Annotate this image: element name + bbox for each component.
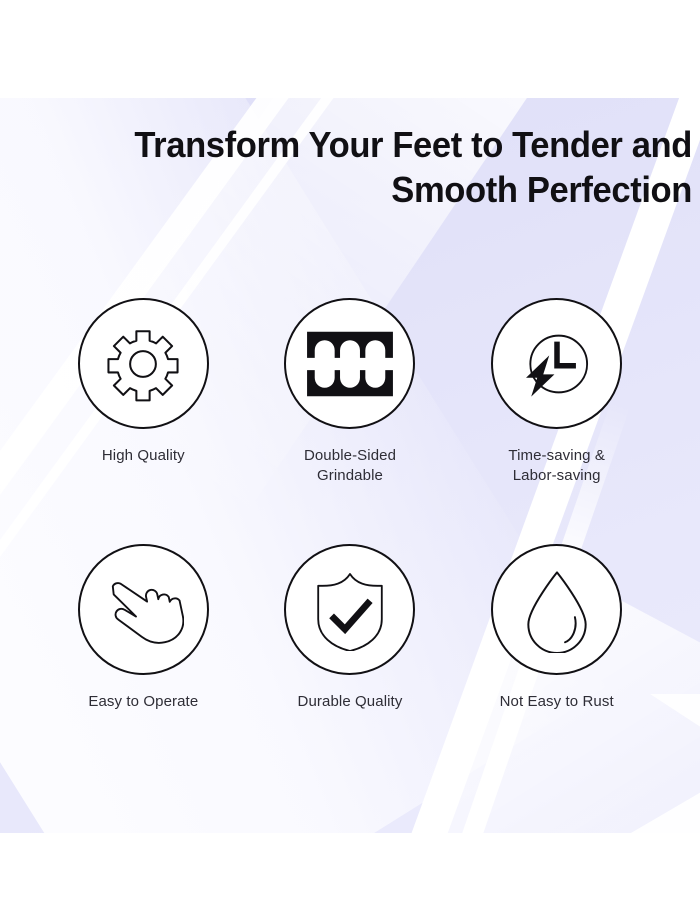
water-droplet-icon — [521, 567, 593, 653]
hand-pointer-icon — [102, 569, 184, 651]
gear-icon — [104, 325, 182, 403]
page-title-line-2: Smooth Perfection — [85, 167, 692, 212]
feature-item-time-saving: Time-saving & Labor-saving — [453, 298, 660, 486]
feature-label: Easy to Operate — [88, 692, 198, 712]
feature-badge — [78, 298, 209, 429]
feature-item-easy-to-operate: Easy to Operate — [40, 544, 247, 712]
feature-badge — [284, 298, 415, 429]
feature-item-double-sided-grindable: Double-Sided Grindable — [247, 298, 454, 486]
shield-check-icon — [311, 569, 389, 651]
light-ray-right-triangle-lower — [612, 774, 700, 833]
feature-label: Not Easy to Rust — [500, 692, 614, 712]
feature-item-high-quality: High Quality — [40, 298, 247, 486]
feature-badge — [491, 298, 622, 429]
page-title: Transform Your Feet to Tender and Smooth… — [85, 122, 692, 212]
feature-badge — [284, 544, 415, 675]
feature-label: Time-saving & Labor-saving — [508, 446, 605, 486]
double-sided-grinder-icon — [304, 327, 396, 401]
feature-item-durable-quality: Durable Quality — [247, 544, 454, 712]
clock-lightning-icon — [514, 321, 600, 407]
feature-grid: High Quality Double-Sided Grindable — [40, 298, 660, 712]
feature-label: Durable Quality — [298, 692, 403, 712]
feature-item-not-easy-to-rust: Not Easy to Rust — [453, 544, 660, 712]
feature-badge — [491, 544, 622, 675]
feature-label: High Quality — [102, 446, 185, 466]
grid-row-spacer — [40, 502, 660, 528]
infographic-canvas: Transform Your Feet to Tender and Smooth… — [0, 0, 700, 900]
feature-label: Double-Sided Grindable — [304, 446, 396, 486]
page-title-line-1: Transform Your Feet to Tender and — [85, 122, 692, 167]
feature-badge — [78, 544, 209, 675]
